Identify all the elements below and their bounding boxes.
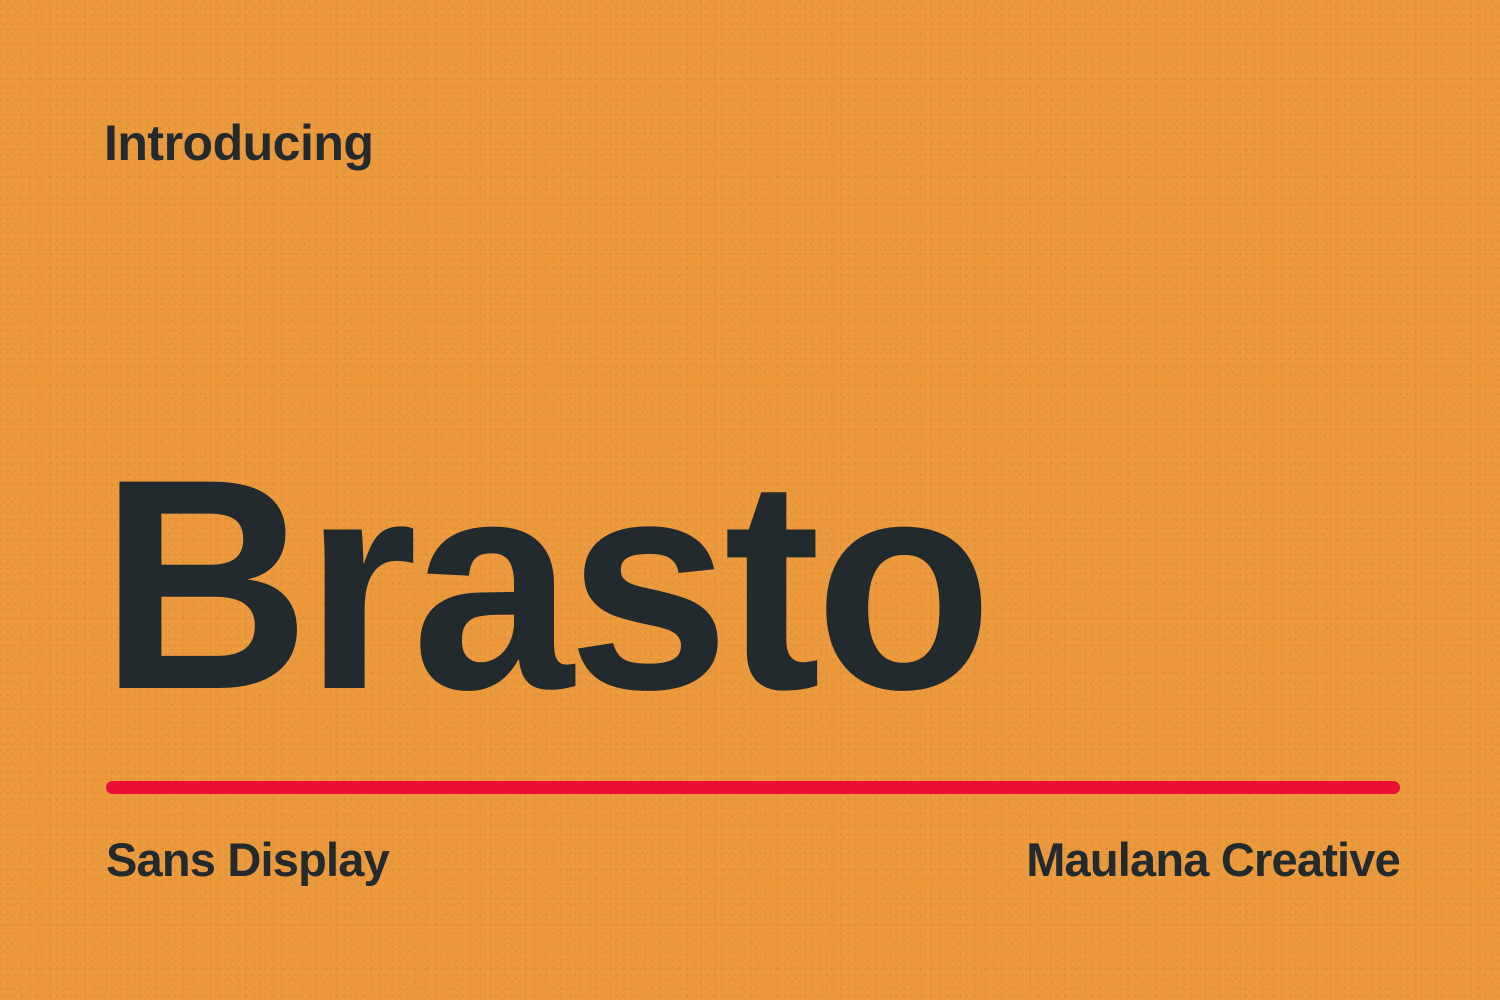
font-name-title: Brasto	[100, 455, 987, 713]
footer-foundry-label: Maulana Creative	[1026, 836, 1400, 883]
footer: Sans Display Maulana Creative	[106, 836, 1400, 883]
footer-category-label: Sans Display	[106, 836, 389, 883]
accent-divider-rule	[106, 781, 1400, 794]
eyebrow-label: Introducing	[104, 118, 373, 168]
font-specimen-poster: Introducing Brasto Sans Display Maulana …	[0, 0, 1500, 1000]
